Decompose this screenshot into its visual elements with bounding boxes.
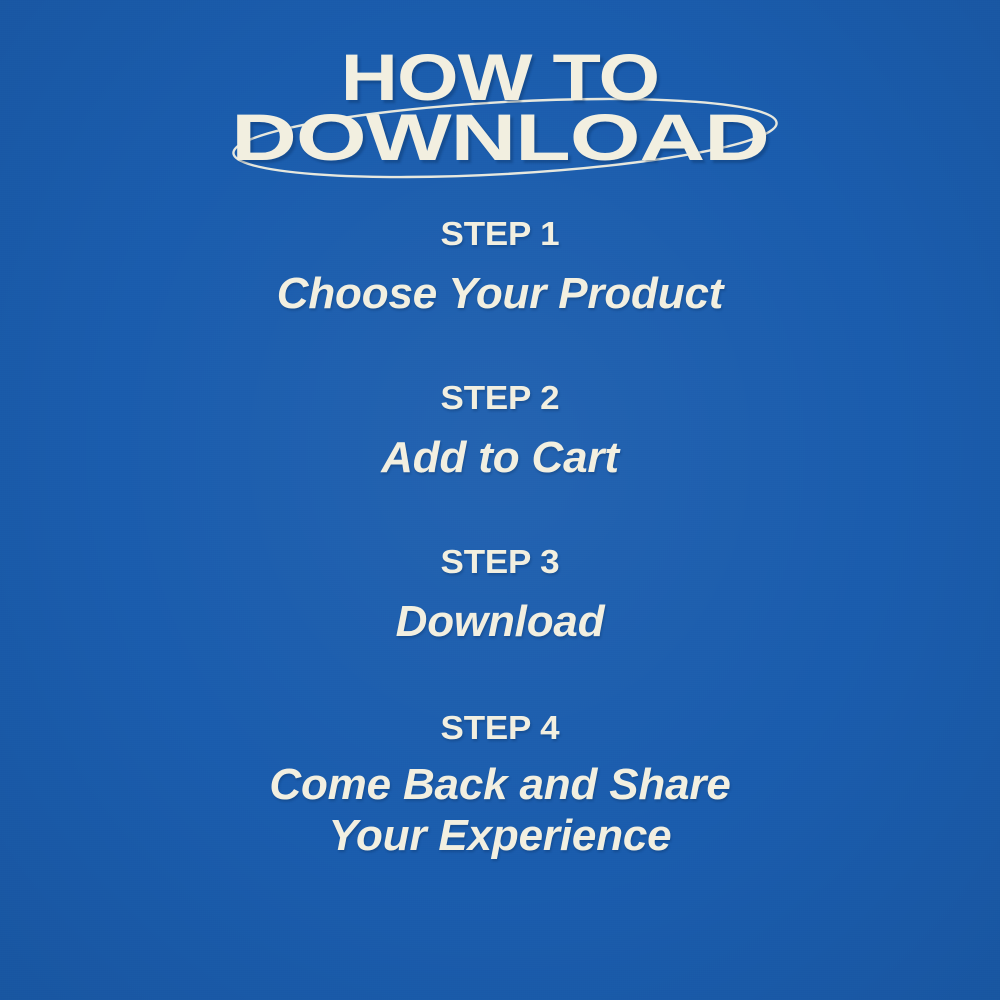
step-title-4: Come Back and Share Your Experience bbox=[0, 759, 1000, 861]
step-label-1: STEP 1 bbox=[0, 216, 1000, 252]
masthead: HOW TO DOWNLOAD bbox=[0, 0, 1000, 190]
step-title-3: Download bbox=[0, 594, 1000, 650]
step-title-2-line-1: Add to Cart bbox=[381, 433, 619, 482]
step-title-2: Add to Cart bbox=[0, 430, 1000, 486]
page-title-line-2: DOWNLOAD bbox=[0, 104, 1000, 170]
step-item-4: STEP 4 Come Back and Share Your Experien… bbox=[0, 710, 1000, 862]
step-label-3: STEP 3 bbox=[0, 544, 1000, 580]
step-item-2: STEP 2 Add to Cart bbox=[0, 380, 1000, 544]
poster-content: HOW TO DOWNLOAD STEP 1 Choose Your Produ… bbox=[0, 0, 1000, 1000]
how-to-download-poster: HOW TO DOWNLOAD STEP 1 Choose Your Produ… bbox=[0, 0, 1000, 1000]
steps-list: STEP 1 Choose Your Product STEP 2 Add to… bbox=[0, 190, 1000, 862]
step-title-1-line-1: Choose Your Product bbox=[277, 269, 723, 318]
step-title-4-line-2: Your Experience bbox=[0, 810, 1000, 861]
step-label-4: STEP 4 bbox=[0, 710, 1000, 746]
step-title-1: Choose Your Product bbox=[0, 266, 1000, 322]
step-item-1: STEP 1 Choose Your Product bbox=[0, 216, 1000, 380]
step-title-4-line-1: Come Back and Share bbox=[0, 759, 1000, 810]
step-item-3: STEP 3 Download bbox=[0, 544, 1000, 710]
step-label-2: STEP 2 bbox=[0, 380, 1000, 416]
step-title-3-line-1: Download bbox=[396, 597, 605, 646]
